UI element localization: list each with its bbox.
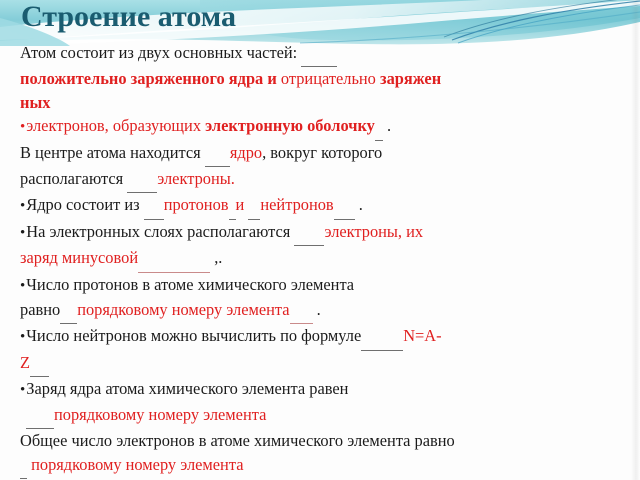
blank-fill-line [144, 195, 164, 219]
blank-fill-line [375, 116, 383, 140]
text-line: Заряд ядра атома химического элемента ра… [20, 377, 630, 402]
paper-edge-shadow [631, 0, 640, 480]
prompt-text: , вокруг которого [262, 143, 382, 162]
prompt-text: Общее число электронов в атоме химическо… [20, 431, 455, 450]
text-line: Общее число электронов в атоме химическо… [20, 429, 630, 452]
text-line: равно порядковому номеру элемента . [20, 298, 630, 324]
answer-text-emphasis: ных [20, 93, 50, 112]
text-line: положительно заряженного ядра и отрицате… [20, 67, 630, 90]
text-line: В центре атома находится ядро, вокруг ко… [20, 141, 630, 167]
blank-fill-line [334, 195, 355, 219]
answer-text: порядковому номеру элемента [54, 405, 266, 424]
answer-text: ядро [230, 143, 262, 162]
text-line: Z [20, 351, 630, 377]
page-title: Строение атома [21, 0, 236, 36]
answer-text: порядковому номеру элемента [27, 455, 243, 474]
prompt-text: Число нейтронов можно вычислить по форму… [26, 326, 361, 345]
blank-fill-line [127, 169, 157, 193]
text-line: Ядро состоит из протонов и нейтронов . [20, 193, 630, 219]
prompt-text: Заряд ядра атома химического элемента ра… [26, 379, 348, 398]
answer-text: электроны. [157, 169, 235, 188]
text-line: Атом состоит из двух основных частей: [20, 41, 630, 67]
prompt-text: ,. [210, 248, 222, 267]
text-line: ных [20, 91, 630, 114]
text-line: Число протонов в атоме химического элеме… [20, 273, 630, 298]
prompt-text: . [313, 300, 321, 319]
prompt-text: располагаются [20, 169, 127, 188]
blank-fill-line [30, 353, 49, 377]
blank-fill-line [205, 143, 230, 167]
presentation-slide: Строение атома Атом состоит из двух осно… [0, 0, 640, 480]
slide-body-text: Атом состоит из двух основных частей: по… [20, 41, 630, 480]
prompt-text: . [355, 195, 363, 214]
text-line: электронов, образующих электронную оболо… [20, 114, 630, 140]
answer-text-emphasis: электронную оболочку [205, 116, 375, 135]
answer-text: электроны, их [324, 222, 423, 241]
answer-text: Z [20, 353, 30, 372]
prompt-text: В центре атома находится [20, 143, 205, 162]
answer-text: отрицательно [281, 69, 380, 88]
blank-fill-line [290, 300, 313, 324]
text-line: располагаются электроны. [20, 167, 630, 193]
blank-fill-line [248, 195, 260, 219]
blank-fill-line [361, 326, 403, 350]
text-line: заряд минусовой ,. [20, 246, 630, 272]
blank-fill-line [26, 405, 54, 429]
blank-fill-line [60, 300, 77, 324]
prompt-text: равно [20, 300, 60, 319]
prompt-text: Атом состоит из двух основных частей: [20, 43, 297, 62]
prompt-text: На электронных слоях располагаются [26, 222, 294, 241]
blank-fill-line [138, 248, 210, 272]
text-line: порядковому номеру элемента [20, 453, 630, 479]
blank-fill-line [229, 195, 236, 219]
prompt-text: Ядро состоит из [26, 195, 143, 214]
blank-fill-line [301, 43, 337, 67]
answer-text: электронов, образующих [26, 116, 205, 135]
answer-text: N=A- [403, 326, 441, 345]
blank-fill-line [294, 222, 324, 246]
answer-text: и [236, 195, 245, 214]
answer-text-emphasis: положительно заряженного ядра и [20, 69, 281, 88]
text-line: порядковому номеру элемента [20, 403, 630, 429]
prompt-text: Число протонов в атоме химического элеме… [26, 275, 354, 294]
blank-fill-line [20, 455, 27, 479]
text-line: Число нейтронов можно вычислить по форму… [20, 324, 630, 350]
prompt-text: . [383, 116, 391, 135]
answer-text: заряд минусовой [20, 248, 138, 267]
answer-text-emphasis: заряжен [380, 69, 441, 88]
answer-text: порядковому номеру элемента [77, 300, 289, 319]
answer-text: нейтронов [260, 195, 333, 214]
answer-text: протонов [164, 195, 229, 214]
text-line: На электронных слоях располагаются элект… [20, 220, 630, 246]
